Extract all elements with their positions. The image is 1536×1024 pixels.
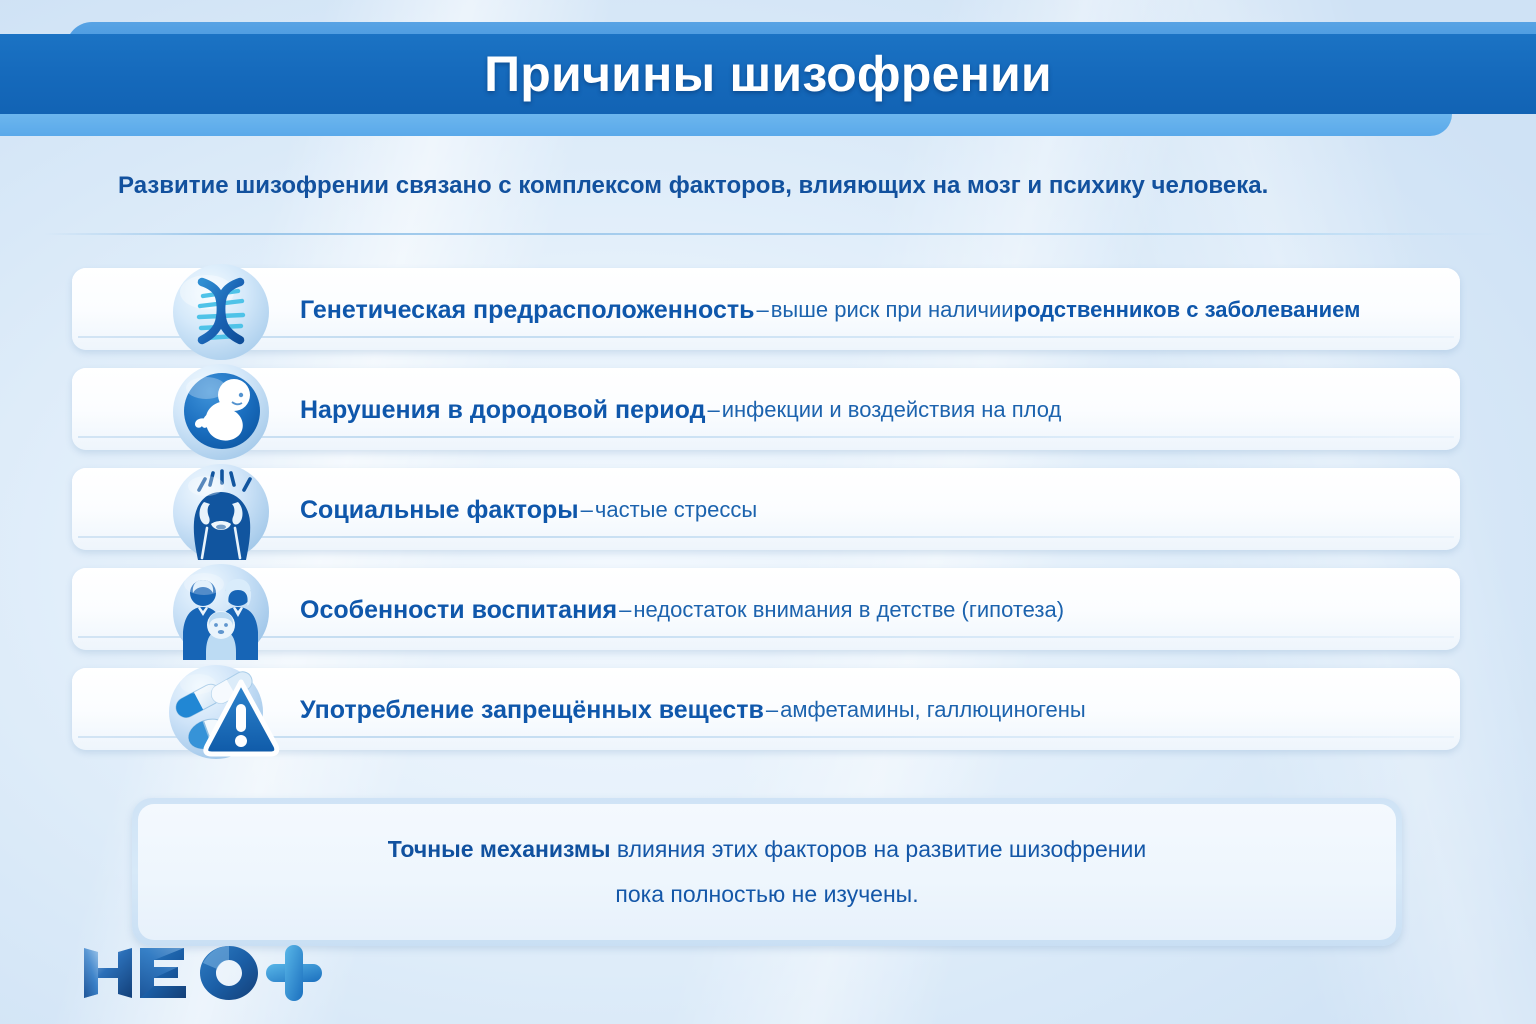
factor-detail: частые стрессы (595, 497, 757, 523)
factor-detail: амфетамины, галлюциногены (780, 697, 1086, 723)
factor-list: Генетическая предрасположенность – выше … (0, 262, 1536, 762)
header: Причины шизофрении (0, 0, 1536, 150)
family-icon (162, 562, 280, 662)
factor-dash: – (756, 297, 768, 323)
card-hairline (78, 536, 1454, 538)
factor-dash: – (581, 497, 593, 523)
conclusion-line-2: пока полностью не изучены. (615, 881, 918, 908)
factor-term: Особенности воспитания (300, 596, 617, 625)
factor-detail: выше риск при наличии (771, 297, 1014, 323)
factor-text: Употребление запрещённых веществ – амфет… (300, 662, 1086, 758)
section-divider (44, 233, 1500, 235)
pills-warning-icon (162, 662, 280, 762)
factor-dash: – (707, 397, 719, 423)
logo[interactable] (80, 942, 330, 1004)
factor-text: Социальные факторы – частые стрессы (300, 462, 757, 558)
conclusion-box: Точные механизмы влияния этих факторов н… (132, 798, 1402, 946)
conclusion-rest: влияния этих факторов на развитие шизофр… (611, 836, 1147, 862)
factor-dash: – (619, 597, 631, 623)
factor-detail: инфекции и воздействия на плод (722, 397, 1062, 423)
header-underline-shape (0, 114, 1452, 136)
conclusion-bold: Точные механизмы (388, 836, 611, 862)
factor-text: Особенности воспитания – недостаток вним… (300, 562, 1064, 658)
dna-icon (162, 262, 280, 362)
factor-text: Нарушения в дородовой период – инфекции … (300, 362, 1061, 458)
factor-term: Генетическая предрасположенность (300, 296, 754, 325)
factor-term: Употребление запрещённых веществ (300, 696, 764, 725)
intro-text: Развитие шизофрении связано с комплексом… (118, 172, 1418, 200)
factor-text: Генетическая предрасположенность – выше … (300, 262, 1360, 358)
factor-term: Социальные факторы (300, 496, 579, 525)
factor-detail: недостаток внимания в детстве (гипотеза) (633, 597, 1064, 623)
list-item[interactable]: Употребление запрещённых веществ – амфет… (0, 662, 1536, 758)
fetus-icon (162, 362, 280, 462)
conclusion-inner: Точные механизмы влияния этих факторов н… (138, 804, 1396, 940)
infographic-canvas: Причины шизофрении Развитие шизофрении с… (0, 0, 1536, 1024)
conclusion-line-1: Точные механизмы влияния этих факторов н… (388, 836, 1146, 863)
factor-detail-emphasis: родственников с заболеванием (1014, 297, 1361, 323)
list-item[interactable]: Генетическая предрасположенность – выше … (0, 262, 1536, 358)
page-title: Причины шизофрении (0, 34, 1536, 114)
list-item[interactable]: Особенности воспитания – недостаток вним… (0, 562, 1536, 658)
stressed-person-icon (162, 462, 280, 562)
factor-dash: – (766, 697, 778, 723)
list-item[interactable]: Нарушения в дородовой период – инфекции … (0, 362, 1536, 458)
list-item[interactable]: Социальные факторы – частые стрессы (0, 462, 1536, 558)
factor-term: Нарушения в дородовой период (300, 396, 705, 425)
